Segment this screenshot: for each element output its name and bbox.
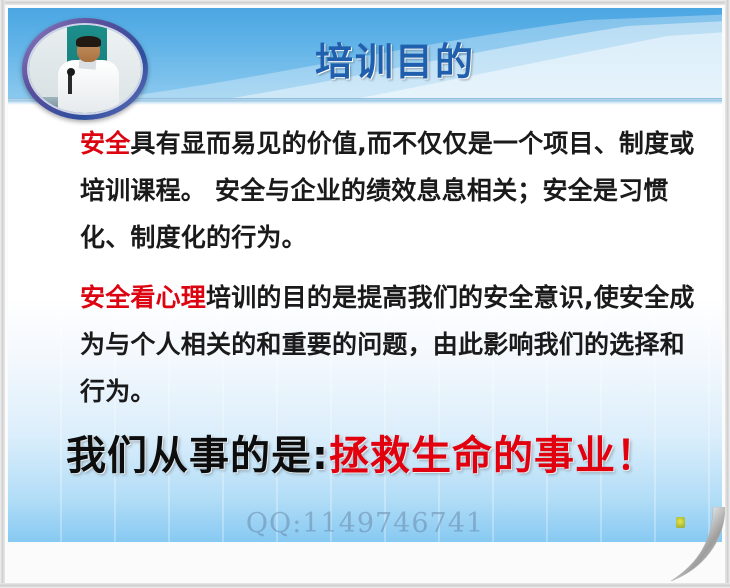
paragraph-1-highlight: 安全 [80,129,130,158]
paragraph-1-text: 具有显而易见的价值,而不仅仅是一个项目、制度或培训课程。 安全与企业的绩效息息相… [80,129,695,252]
paragraph-1: 安全具有显而易见的价值,而不仅仅是一个项目、制度或培训课程。 安全与企业的绩效息… [8,120,722,261]
headline-lead: 我们从事的是: [66,433,329,479]
frame-edge-top [0,0,730,5]
frame-edge-right [725,0,730,588]
corner-speck-icon [676,517,685,528]
slide-body: 安全具有显而易见的价值,而不仅仅是一个项目、制度或培训课程。 安全与企业的绩效息… [8,120,722,428]
qq-watermark: QQ:1149746741 [8,508,722,539]
slide-frame: 培训目的 安全具有显而易见的价值,而不仅仅是一个项目、制度或培训课程。 安全与企… [0,0,730,588]
frame-edge-left [0,0,5,588]
photo-person-hair [76,36,101,47]
presenter-photo [27,23,143,115]
slide-headline: 我们从事的是:拯救生命的事业！ [8,433,722,479]
paragraph-2: 安全看心理培训的目的是提高我们的安全意识,使安全成为与个人相关的和重要的问题，由… [8,274,722,415]
slide-canvas: 培训目的 安全具有显而易见的价值,而不仅仅是一个项目、制度或培训课程。 安全与企… [8,8,722,542]
microphone-head-icon [67,68,75,76]
frame-edge-bottom [0,583,730,588]
headline-emphasis: 拯救生命的事业！ [329,433,657,479]
paragraph-2-highlight: 安全看心理 [80,283,206,312]
presenter-photo-frame [22,18,148,120]
